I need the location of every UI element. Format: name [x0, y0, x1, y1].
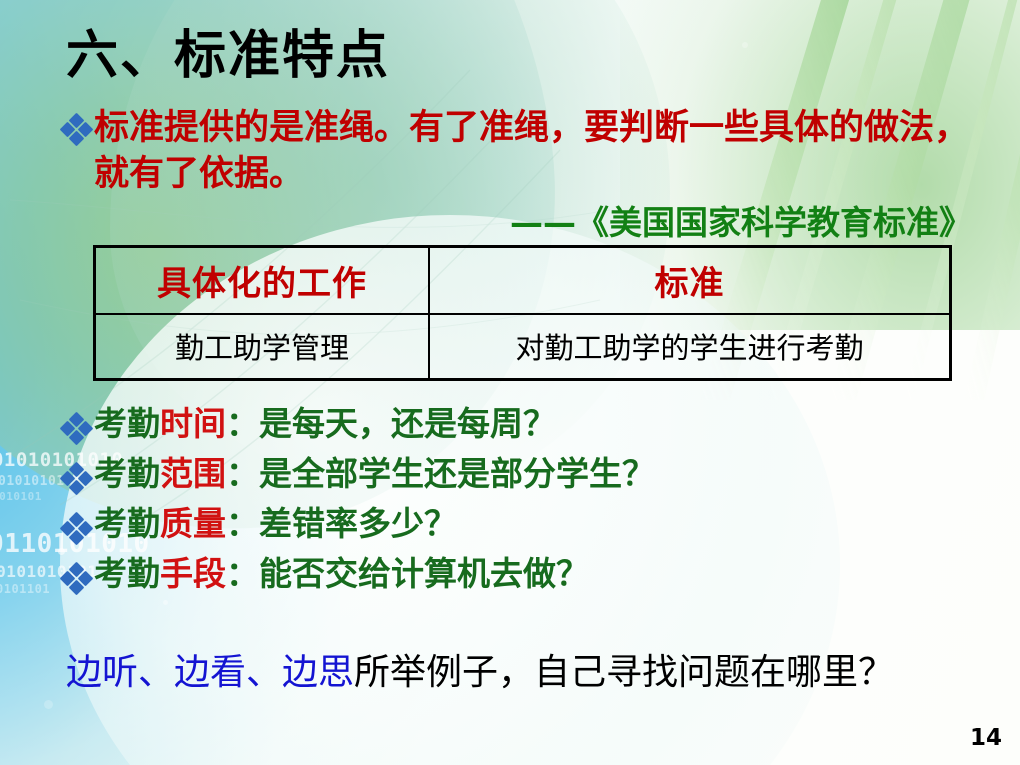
question-list: 考勤时间：是每天，还是每周？ 考勤范围：是全部学生还是部分学生？ 考勤质量：差错…: [62, 406, 655, 606]
diamond-cluster-icon: [62, 565, 92, 595]
diamond-cluster-icon: [62, 415, 92, 445]
question-keyword: 手段: [160, 554, 226, 593]
table-header-cell-work: 具体化的工作: [96, 248, 430, 313]
table-cell-work: 勤工助学管理: [96, 315, 430, 378]
question-text: 考勤质量：差错率多少？: [94, 506, 457, 543]
list-item: 考勤范围：是全部学生还是部分学生？: [62, 456, 655, 495]
question-text: 考勤范围：是全部学生还是部分学生？: [94, 456, 655, 493]
question-suffix: ：是每天，还是每周？: [226, 404, 556, 443]
diamond-cluster-icon: [62, 515, 92, 545]
question-prefix: 考勤: [94, 504, 160, 543]
page-number: 14: [970, 725, 1002, 751]
question-prefix: 考勤: [94, 554, 160, 593]
list-item: 考勤时间：是每天，还是每周？: [62, 406, 655, 445]
slide-title: 六、标准特点: [66, 28, 390, 84]
standards-table: 具体化的工作 标准 勤工助学管理 对勤工助学的学生进行考勤: [93, 245, 952, 381]
presentation-slide: 101010101010 01010101010 1010101 1011010…: [0, 0, 1020, 765]
table-cell-text: 对勤工助学的学生进行考勤: [515, 325, 863, 367]
list-item: 考勤手段：能否交给计算机去做？: [62, 556, 655, 595]
closing-rest: 所举例子，自己寻找问题在哪里？: [354, 652, 894, 693]
table-header-label: 具体化的工作: [157, 256, 367, 305]
question-prefix: 考勤: [94, 454, 160, 493]
table-header-cell-standard: 标准: [430, 248, 949, 313]
question-keyword: 质量: [160, 504, 226, 543]
list-item: 考勤质量：差错率多少？: [62, 506, 655, 545]
closing-highlight: 边听、边看、边思: [66, 652, 354, 693]
question-suffix: ：差错率多少？: [226, 504, 457, 543]
table-header-row: 具体化的工作 标准: [96, 248, 949, 315]
question-suffix: ：是全部学生还是部分学生？: [226, 454, 655, 493]
diamond-cluster-icon: [62, 465, 92, 495]
question-keyword: 时间: [160, 404, 226, 443]
diamond-cluster-icon: [62, 116, 92, 146]
lead-statement-text: 标准提供的是准绳。有了准绳，要判断一些具体的做法，就有了依据。: [94, 106, 982, 197]
table-header-label: 标准: [655, 256, 725, 305]
table-cell-standard: 对勤工助学的学生进行考勤: [430, 315, 949, 378]
table-cell-text: 勤工助学管理: [175, 325, 349, 367]
question-keyword: 范围: [160, 454, 226, 493]
question-prefix: 考勤: [94, 404, 160, 443]
question-text: 考勤手段：能否交给计算机去做？: [94, 556, 589, 593]
closing-statement: 边听、边看、边思所举例子，自己寻找问题在哪里？: [66, 643, 894, 695]
lead-statement: 标准提供的是准绳。有了准绳，要判断一些具体的做法，就有了依据。: [62, 106, 982, 197]
table-row: 勤工助学管理 对勤工助学的学生进行考勤: [96, 315, 949, 378]
slide-content: 六、标准特点 标准提供的是准绳。有了准绳，要判断一些具体的做法，就有了依据。 —…: [0, 0, 1020, 765]
citation-source: ——《美国国家科学教育标准》: [510, 196, 972, 244]
question-suffix: ：能否交给计算机去做？: [226, 554, 589, 593]
question-text: 考勤时间：是每天，还是每周？: [94, 406, 556, 443]
